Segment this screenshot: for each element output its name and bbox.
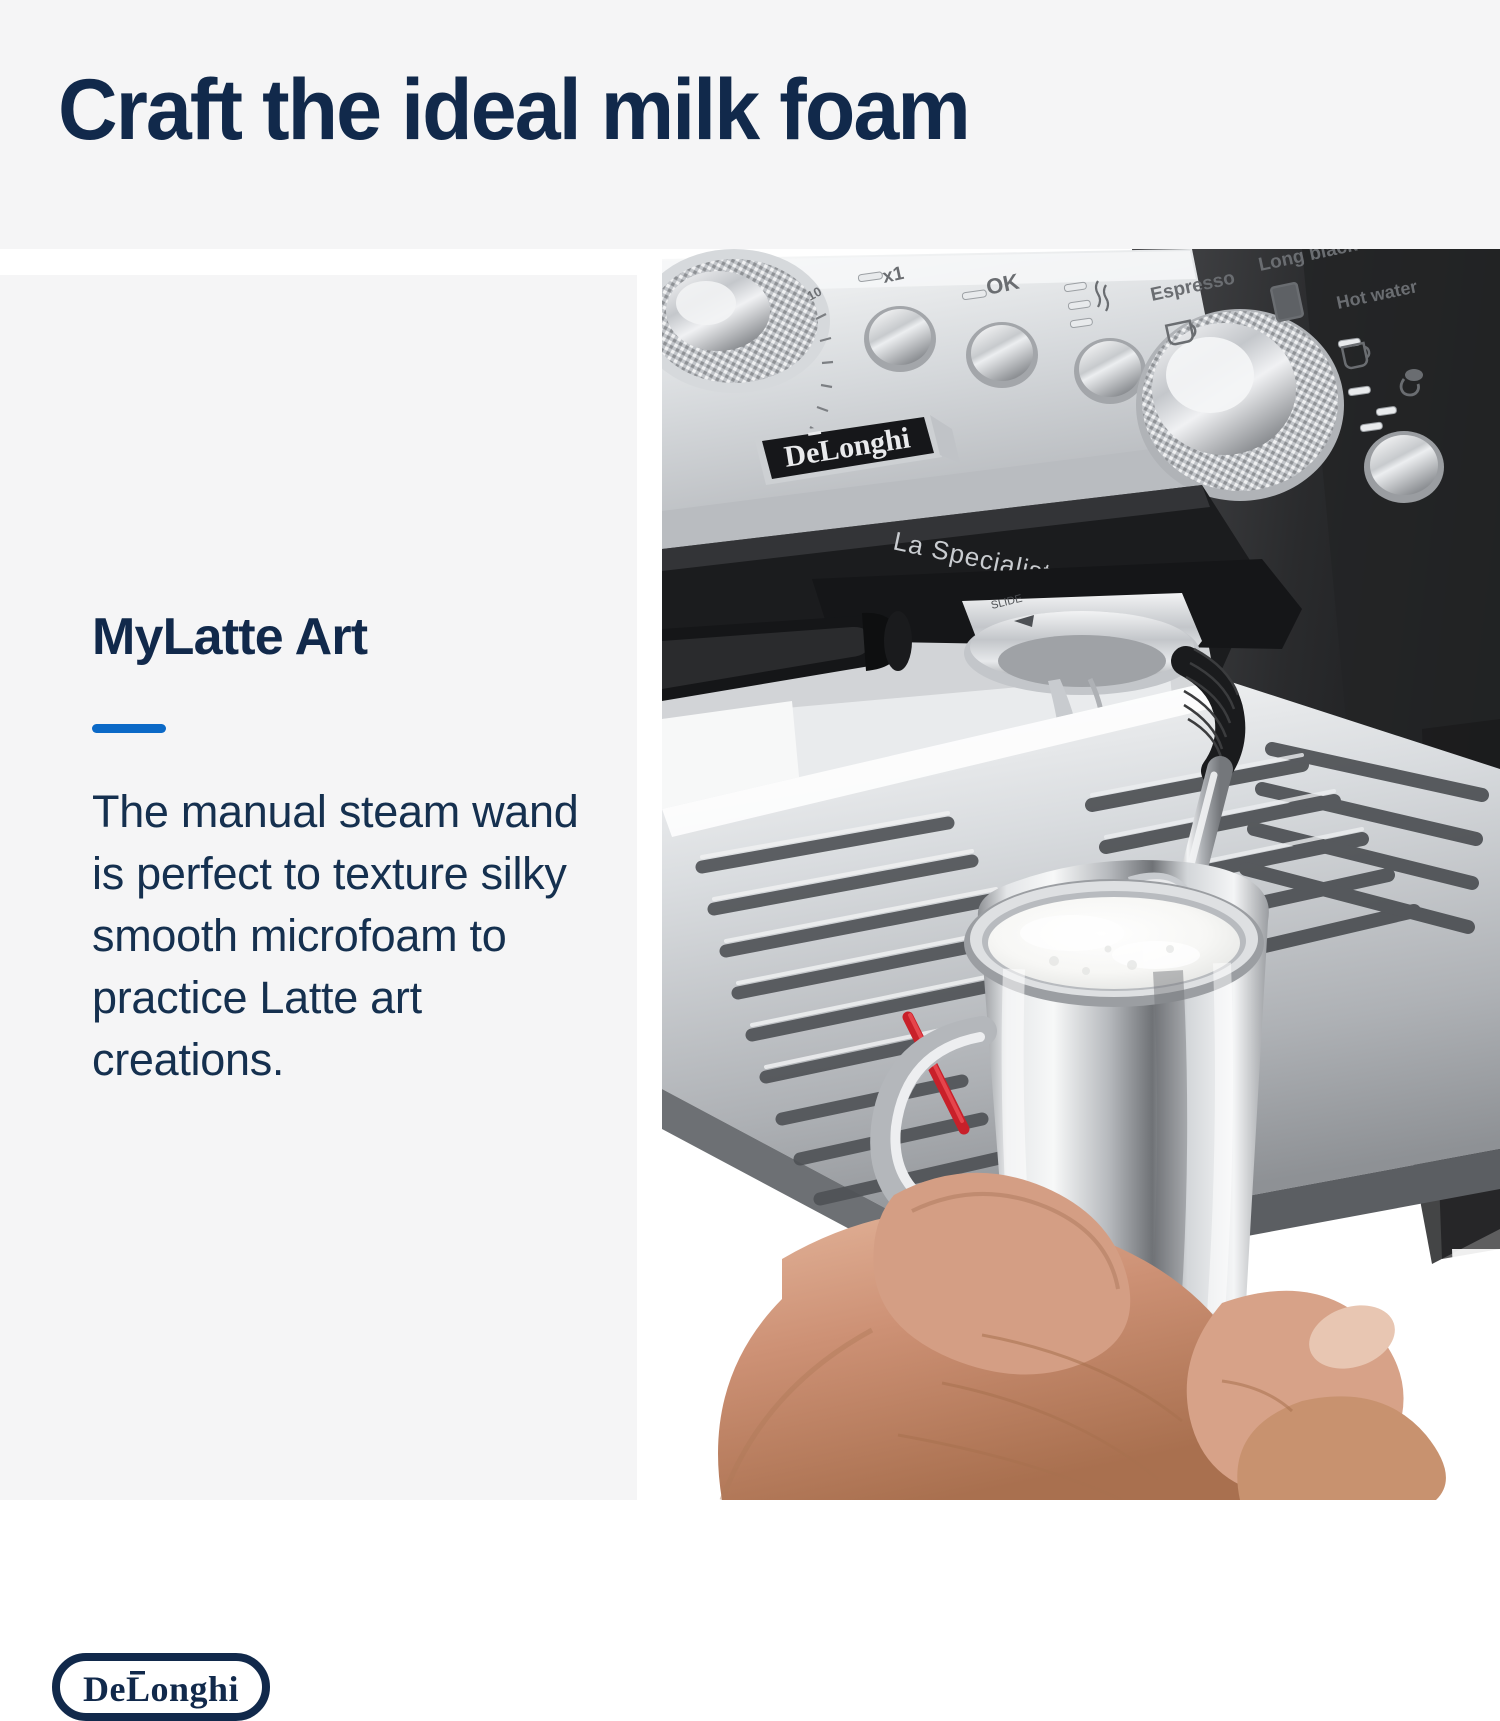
accent-rule [92,724,166,733]
page-header: Craft the ideal milk foam [0,0,1500,249]
delonghi-logo: DeLonghi [52,1653,270,1721]
logo-macron [130,1671,145,1675]
product-photo: 10 1 [662,249,1500,1500]
feature-text-panel: MyLatte Art The manual steam wand is per… [0,275,637,1500]
feature-title: MyLatte Art [92,607,367,667]
page-title: Craft the ideal milk foam [58,62,969,158]
feature-description: The manual steam wand is perfect to text… [92,781,592,1091]
mode-selector-knob [1136,309,1344,501]
logo-wordmark: DeLonghi [83,1669,239,1709]
